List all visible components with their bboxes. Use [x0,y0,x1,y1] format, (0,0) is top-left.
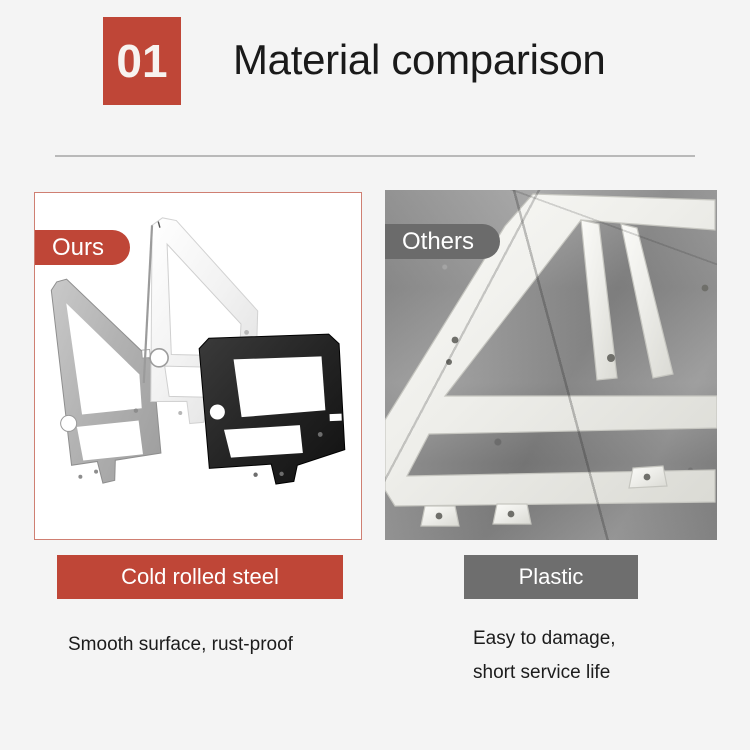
caption-banner-cold-rolled-steel: Cold rolled steel [57,555,343,599]
header-divider [55,155,695,157]
description-others-line2: short service life [473,656,616,690]
comparison-panel-others: Others [385,190,717,540]
page-title: Material comparison [233,36,605,84]
tag-others-label: Others [402,230,474,254]
description-ours: Smooth surface, rust-proof [68,628,293,662]
tag-others: Others [385,224,500,259]
page-header: 01 Material comparison [0,0,750,120]
caption-banner-plastic: Plastic [464,555,638,599]
section-number-badge: 01 [103,17,181,105]
caption-label-plastic: Plastic [519,566,584,588]
comparison-panel-ours: Ours [34,192,362,540]
tag-ours-label: Ours [52,236,104,260]
tag-ours: Ours [35,230,130,265]
description-others-line1: Easy to damage, [473,622,616,656]
caption-label-cold-rolled-steel: Cold rolled steel [121,566,279,588]
description-others: Easy to damage, short service life [473,622,616,690]
section-number-label: 01 [116,38,167,84]
